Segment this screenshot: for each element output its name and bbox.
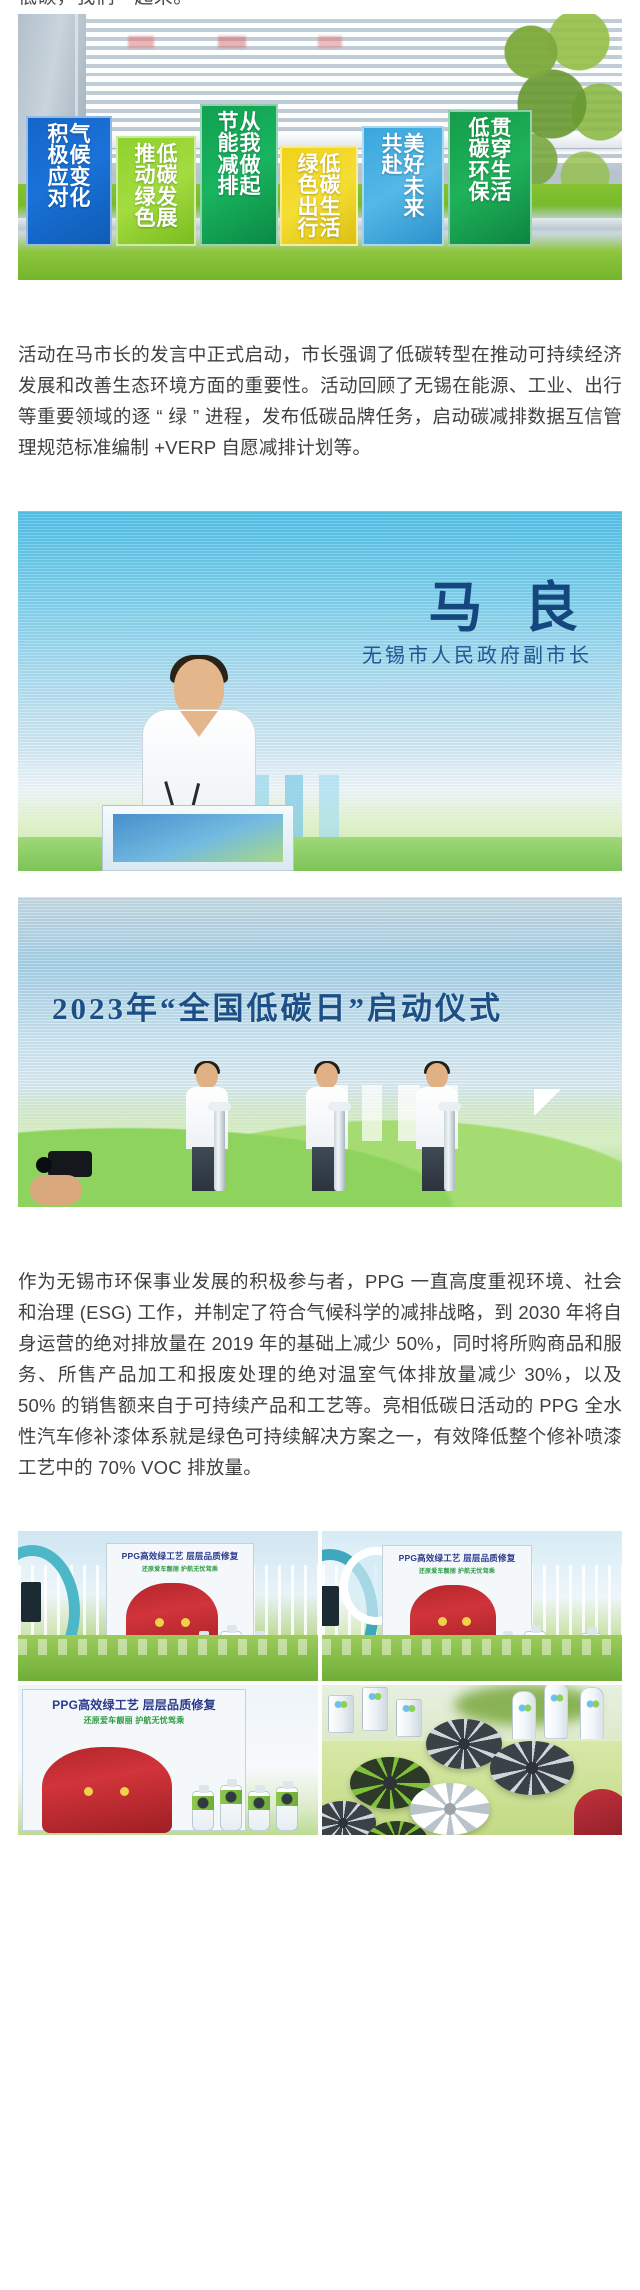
banner-board-blue-1: 积 极 应 对 气 候 变 化 <box>26 116 112 246</box>
banner-char: 生 <box>491 161 512 182</box>
banner-char: 我 <box>240 133 261 154</box>
operator-hand <box>30 1175 82 1205</box>
grid-cell-bottom-left[interactable]: PPG高效绿工艺 层层品质修复 还原爱车靓丽 护航无忧驾乘 <box>18 1685 318 1835</box>
banner-char: 发 <box>157 187 178 208</box>
banner-column-b: 美 好 未 来 <box>404 134 425 220</box>
banner-char: 色 <box>298 175 319 196</box>
banner-column-a: 推 动 绿 色 <box>135 144 156 230</box>
hedge-row <box>322 1635 622 1681</box>
paint-bottle <box>192 1791 214 1831</box>
paragraph-one: 活动在马市长的发言中正式启动，市长强调了低碳转型在推动可持续经济发展和改善生态环… <box>0 339 640 463</box>
truncated-heading: 低碳，我们一起来。 <box>0 0 640 14</box>
banner-board-yellow-4: 绿 色 出 行 低 碳 生 活 <box>280 146 358 246</box>
banner-char: 色 <box>135 208 156 229</box>
banner-char: 动 <box>135 165 156 186</box>
figure-banners[interactable]: 积 极 应 对 气 候 变 化 推 <box>18 14 622 280</box>
bottle-cap <box>248 1796 270 1810</box>
banner-char: 碳 <box>469 139 490 160</box>
speaker-title: 无锡市人民政府副市长 <box>362 639 592 668</box>
alloy-wheel-white <box>410 1783 490 1835</box>
banner-char: 推 <box>135 144 156 165</box>
banner-char: 穿 <box>491 139 512 160</box>
bottle-cap <box>276 1792 298 1806</box>
banner-char: 起 <box>240 176 261 197</box>
banner-column-b: 从 我 做 起 <box>240 112 261 198</box>
camera-lens <box>36 1157 52 1173</box>
figure-podium[interactable]: 马 良 无锡市人民政府副市长 <box>18 511 622 871</box>
car-hood-display <box>42 1747 172 1833</box>
paint-bottle-tall <box>580 1687 604 1745</box>
exhibit-headline: PPG高效绿工艺 层层品质修复 <box>122 1550 239 1562</box>
paint-bottle <box>220 1785 242 1831</box>
banner-char: 保 <box>469 182 490 203</box>
banner-char: 未 <box>404 177 425 198</box>
banner-char: 候 <box>70 145 91 166</box>
figure-exhibition-grid[interactable]: PPG高效绿工艺 层层品质修复 还原爱车靓丽 护航无忧驾乘 PPG高效绿工艺 层… <box>18 1531 622 1835</box>
paint-can <box>396 1699 422 1737</box>
banner-char: 低 <box>469 118 490 139</box>
banner-column-b: 低 碳 生 活 <box>320 154 341 240</box>
alloy-wheel-black <box>490 1741 574 1795</box>
banner-char: 变 <box>70 167 91 188</box>
exhibit-subline: 还原爱车靓丽 护航无忧驾乘 <box>84 1715 185 1726</box>
launch-pedestal-center <box>334 1109 345 1191</box>
banner-char: 行 <box>298 218 319 239</box>
participant-head <box>426 1063 448 1089</box>
truncated-heading-text: 低碳，我们一起来。 <box>18 0 622 13</box>
camera-body <box>48 1151 92 1177</box>
article-page: 低碳，我们一起来。 积 极 应 对 气 <box>0 0 640 1853</box>
banner-board-green-2: 推 动 绿 色 低 碳 发 展 <box>116 136 196 246</box>
banner-char: 活 <box>320 218 341 239</box>
banner-char: 展 <box>157 208 178 229</box>
participant-head <box>196 1063 218 1089</box>
exhibit-subline: 还原爱车靓丽 护航无忧驾乘 <box>419 1566 495 1575</box>
launch-pedestal-right <box>444 1109 455 1191</box>
grid-cell-top-right[interactable]: PPG高效绿工艺 层层品质修复 还原爱车靓丽 护航无忧驾乘 <box>322 1531 622 1681</box>
banner-column-a: 积 极 应 对 <box>48 124 69 210</box>
banner-column-b: 气 候 变 化 <box>70 124 91 210</box>
banner-char: 低 <box>320 154 341 175</box>
banner-char: 绿 <box>298 154 319 175</box>
banner-char: 赴 <box>382 155 403 176</box>
bottle-cap <box>192 1796 214 1810</box>
parked-cars <box>128 36 448 48</box>
grid-cell-top-left[interactable]: PPG高效绿工艺 层层品质修复 还原爱车靓丽 护航无忧驾乘 <box>18 1531 318 1681</box>
lectern-graphic <box>113 814 283 862</box>
banner-char: 能 <box>218 133 239 154</box>
banner-char: 来 <box>404 198 425 219</box>
banner-char: 好 <box>404 155 425 176</box>
paint-bottle <box>276 1787 298 1831</box>
banner-char: 从 <box>240 112 261 133</box>
participant-head <box>316 1063 338 1089</box>
banner-char: 活 <box>491 182 512 203</box>
banner-board-blue-5: 共 赴 美 好 未 来 <box>362 126 444 246</box>
banner-board-row: 积 极 应 对 气 候 变 化 推 <box>18 96 622 246</box>
banner-board-green-6: 低 碳 环 保 贯 穿 生 活 <box>448 110 532 246</box>
paint-bottle-group <box>192 1775 312 1831</box>
banner-char: 对 <box>48 188 69 209</box>
banner-char: 碳 <box>157 165 178 186</box>
banner-column-a: 低 碳 环 保 <box>469 118 490 204</box>
banner-char: 生 <box>320 197 341 218</box>
speaker-figure <box>136 659 262 819</box>
red-hood-edge <box>574 1789 622 1835</box>
banner-column-a: 节 能 减 排 <box>218 112 239 198</box>
lectern <box>102 805 294 871</box>
banner-char: 积 <box>48 124 69 145</box>
banner-char: 绿 <box>135 187 156 208</box>
paint-can <box>328 1695 354 1733</box>
banner-char: 气 <box>70 124 91 145</box>
speaker-name: 马 良 <box>429 563 593 642</box>
banner-char: 共 <box>382 134 403 155</box>
exhibit-subline: 还原爱车靓丽 护航无忧驾乘 <box>142 1564 218 1573</box>
banner-char: 环 <box>469 161 490 182</box>
banner-char: 减 <box>218 155 239 176</box>
banner-board-green-3: 节 能 减 排 从 我 做 起 <box>200 104 278 246</box>
launch-pedestal-left <box>214 1109 225 1191</box>
figure-ceremony[interactable]: 2023年“全国低碳日”启动仪式 <box>18 897 622 1207</box>
banner-char: 做 <box>240 155 261 176</box>
banner-char: 极 <box>48 145 69 166</box>
hedge-row <box>18 1635 318 1681</box>
banner-char: 节 <box>218 112 239 133</box>
banner-column-a: 绿 色 出 行 <box>298 154 319 240</box>
banner-char: 排 <box>218 176 239 197</box>
paint-bottle <box>248 1791 270 1831</box>
banner-char: 应 <box>48 167 69 188</box>
exhibit-headline: PPG高效绿工艺 层层品质修复 <box>399 1552 516 1564</box>
arch-screen <box>21 1582 41 1622</box>
arch-screen <box>322 1586 339 1626</box>
banner-char: 化 <box>70 188 91 209</box>
banner-column-b: 贯 穿 生 活 <box>491 118 512 204</box>
banner-char: 美 <box>404 134 425 155</box>
paint-bottle-tall <box>544 1685 568 1739</box>
video-camera <box>36 1145 110 1203</box>
stage-title-text: 2023年“全国低碳日”启动仪式 <box>52 983 503 1028</box>
banner-char: 碳 <box>320 175 341 196</box>
banner-char: 贯 <box>491 118 512 139</box>
banner-char: 低 <box>157 144 178 165</box>
paint-can <box>362 1687 388 1731</box>
banner-char: 出 <box>298 197 319 218</box>
exhibit-headline: PPG高效绿工艺 层层品质修复 <box>52 1696 216 1713</box>
grid-cell-bottom-right[interactable] <box>322 1685 622 1835</box>
banner-column-b: 低 碳 发 展 <box>157 144 178 230</box>
paragraph-two: 作为无锡市环保事业发展的积极参与者，PPG 一直高度重视环境、社会和治理 (ES… <box>0 1266 640 1483</box>
bottle-cap <box>220 1790 242 1804</box>
banner-column-a: 共 赴 <box>382 134 403 220</box>
